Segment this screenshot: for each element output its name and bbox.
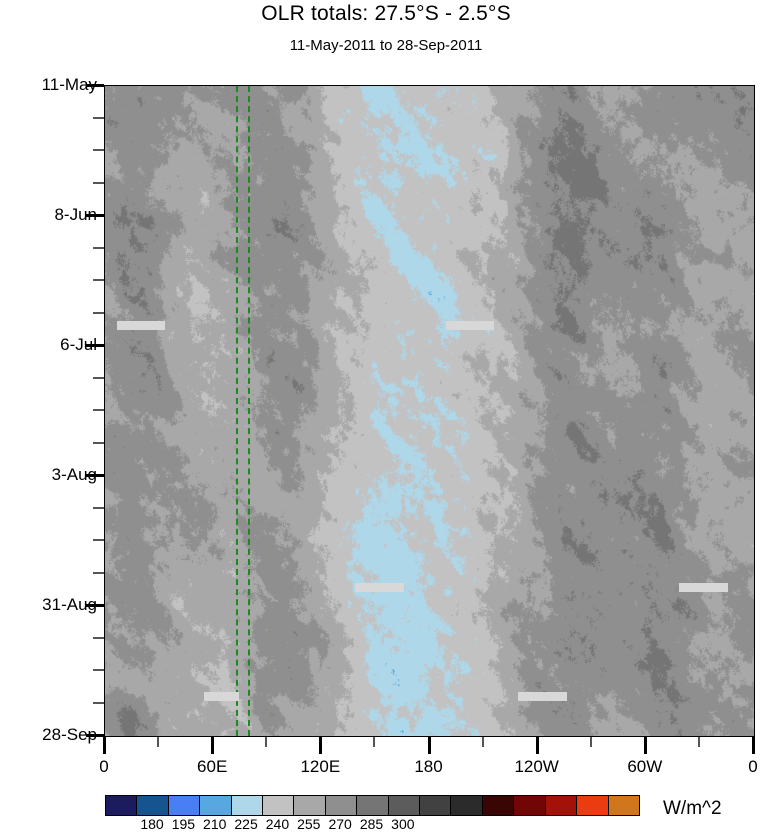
colorbar-cell-9 xyxy=(389,796,420,815)
colorbar-tick-225: 225 xyxy=(234,816,257,832)
x-axis-tick-label: 120E xyxy=(300,757,340,777)
colorbar-cell-1 xyxy=(137,796,168,815)
y-axis-major-tick xyxy=(86,604,104,607)
colorbar-cell-8 xyxy=(357,796,388,815)
y-axis-minor-tick xyxy=(93,312,104,314)
x-axis-major-tick xyxy=(536,737,539,754)
y-axis-minor-tick xyxy=(93,149,104,151)
colorbar-cell-5 xyxy=(263,796,294,815)
x-axis-minor-tick xyxy=(482,737,484,747)
colorbar-cell-10 xyxy=(420,796,451,815)
colorbar-unit-label: W/m^2 xyxy=(663,798,722,820)
x-axis-tick-label: 60W xyxy=(627,757,662,777)
x-axis-minor-tick xyxy=(265,737,267,747)
y-axis-minor-tick xyxy=(93,637,104,639)
colorbar-cell-15 xyxy=(577,796,608,815)
green-dashed-line-west xyxy=(236,86,238,736)
colorbar-cell-6 xyxy=(294,796,325,815)
x-axis-major-tick xyxy=(428,737,431,754)
x-axis-tick-label: 180 xyxy=(414,757,442,777)
y-axis-major-tick xyxy=(86,214,104,217)
page-subtitle: 11-May-2011 to 28-Sep-2011 xyxy=(0,37,772,54)
colorbar-cell-2 xyxy=(169,796,200,815)
colorbar-tick-255: 255 xyxy=(297,816,320,832)
y-axis-minor-tick xyxy=(93,377,104,379)
y-axis-minor-tick xyxy=(93,247,104,249)
y-axis-minor-tick xyxy=(93,117,104,119)
x-axis-tick-label: 60E xyxy=(197,757,227,777)
event-marker-bar xyxy=(518,692,567,701)
colorbar-cell-0 xyxy=(106,796,137,815)
colorbar-cell-14 xyxy=(546,796,577,815)
colorbar-cell-12 xyxy=(483,796,514,815)
x-axis-major-tick xyxy=(103,737,106,754)
green-dashed-line-east xyxy=(248,86,250,736)
x-axis-minor-tick xyxy=(698,737,700,747)
x-axis-major-tick xyxy=(752,737,755,754)
y-axis-minor-tick xyxy=(93,539,104,541)
hovmoller-plot-area[interactable] xyxy=(104,85,755,737)
colorbar-tick-285: 285 xyxy=(360,816,383,832)
x-axis-tick-label: 0 xyxy=(748,757,757,777)
colorbar-tick-240: 240 xyxy=(266,816,289,832)
colorbar-cell-7 xyxy=(326,796,357,815)
colorbar-tick-300: 300 xyxy=(391,816,414,832)
x-axis-tick-label: 0 xyxy=(99,757,108,777)
event-marker-bar xyxy=(204,692,240,701)
event-marker-bar xyxy=(117,321,166,330)
colorbar[interactable] xyxy=(105,795,640,816)
x-axis-minor-tick xyxy=(157,737,159,747)
x-axis-major-tick xyxy=(319,737,322,754)
y-axis-minor-tick xyxy=(93,409,104,411)
colorbar-tick-210: 210 xyxy=(203,816,226,832)
x-axis-minor-tick xyxy=(373,737,375,747)
y-axis-minor-tick xyxy=(93,507,104,509)
colorbar-cell-13 xyxy=(514,796,545,815)
y-axis-minor-tick xyxy=(93,182,104,184)
colorbar-tick-270: 270 xyxy=(328,816,351,832)
page-title: OLR totals: 27.5°S - 2.5°S xyxy=(0,2,772,26)
colorbar-cell-16 xyxy=(609,796,639,815)
y-axis-minor-tick xyxy=(93,572,104,574)
x-axis-major-tick xyxy=(211,737,214,754)
x-axis-minor-tick xyxy=(590,737,592,747)
colorbar-tick-195: 195 xyxy=(172,816,195,832)
event-marker-bar xyxy=(446,321,495,330)
colorbar-cell-4 xyxy=(232,796,263,815)
y-axis-major-tick xyxy=(86,344,104,347)
event-marker-bar xyxy=(679,583,728,592)
colorbar-cell-11 xyxy=(451,796,482,815)
y-axis-minor-tick xyxy=(93,669,104,671)
colorbar-cell-3 xyxy=(200,796,231,815)
y-axis-minor-tick xyxy=(93,442,104,444)
y-axis-major-tick xyxy=(86,474,104,477)
y-axis-labels: 11-May8-Jun6-Jul3-Aug31-Aug28-Sep xyxy=(0,0,97,834)
x-axis-major-tick xyxy=(644,737,647,754)
y-axis-major-tick xyxy=(86,734,104,737)
y-axis-minor-tick xyxy=(93,702,104,704)
y-axis-minor-tick xyxy=(93,279,104,281)
y-axis-major-tick xyxy=(86,84,104,87)
olr-heatmap-canvas xyxy=(105,86,754,736)
colorbar-tick-180: 180 xyxy=(140,816,163,832)
x-axis-tick-label: 120W xyxy=(514,757,558,777)
event-marker-bar xyxy=(355,583,404,592)
